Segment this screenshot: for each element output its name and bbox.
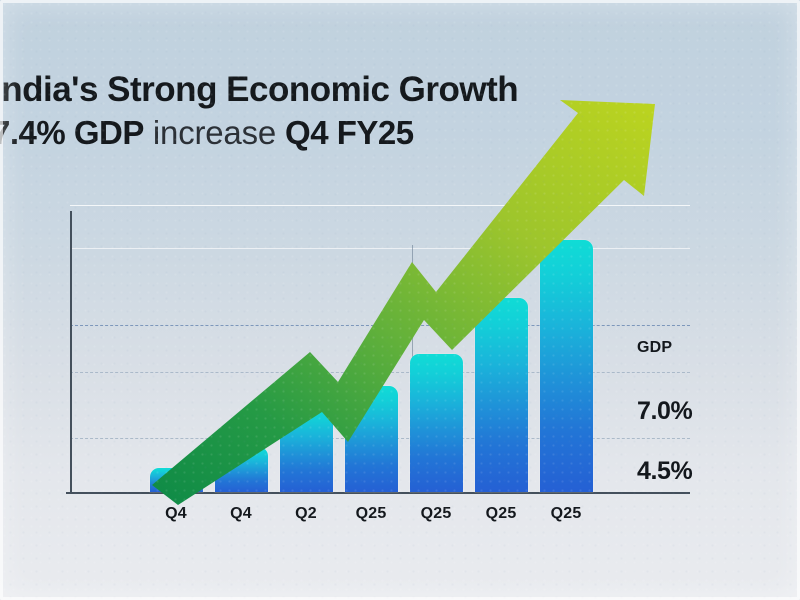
y-axis — [70, 211, 72, 492]
x-tick-label-6: Q25 — [531, 505, 601, 523]
x-tick-label-1: Q4 — [206, 505, 276, 523]
x-tick-label-4: Q25 — [401, 505, 471, 523]
gridline-4 — [70, 372, 690, 373]
x-axis — [66, 492, 690, 494]
value-label-7-0: 7.0% — [637, 397, 692, 426]
x-tick-label-5: Q25 — [466, 505, 536, 523]
page-title: India's Strong Economic Growth — [0, 72, 692, 109]
x-tick-label-2: Q2 — [271, 505, 341, 523]
subtitle-stat: 7.4% GDP — [0, 114, 144, 151]
series-label-gdp: GDP — [637, 339, 672, 357]
x-tick-label-3: Q25 — [336, 505, 406, 523]
headline-block: India's Strong Economic Growth 7.4% GDPi… — [0, 72, 692, 150]
infographic-poster: Q4 Q4 Q2 Q25 Q25 Q25 Q25 GDP 7.0% 4.5% I… — [0, 0, 800, 600]
value-label-4-5: 4.5% — [637, 457, 692, 486]
subtitle: 7.4% GDPincreaseQ4 FY25 — [0, 116, 692, 151]
gridline-2 — [70, 248, 690, 249]
bar-q4-1[interactable] — [150, 468, 203, 492]
bar-q25-2[interactable] — [410, 354, 463, 492]
bar-q4-2[interactable] — [215, 447, 268, 492]
bar-q25-4[interactable] — [540, 240, 593, 492]
bar-q25-1[interactable] — [345, 386, 398, 492]
subtitle-mid: increase — [153, 114, 276, 151]
bar-q2[interactable] — [280, 407, 333, 492]
bar-q25-3[interactable] — [475, 298, 528, 492]
subtitle-period: Q4 FY25 — [285, 114, 414, 151]
gridline-highlight — [70, 325, 690, 326]
tick-stem-3 — [412, 245, 413, 370]
x-tick-label-0: Q4 — [141, 505, 211, 523]
gridline-top — [70, 205, 690, 206]
